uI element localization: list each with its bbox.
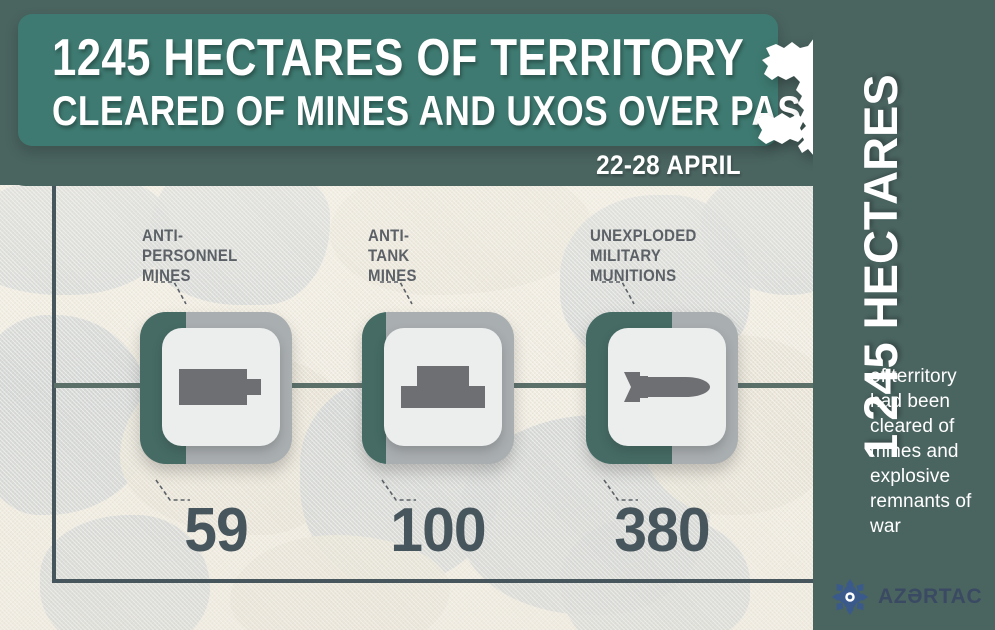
card-inner-plate: [162, 328, 280, 446]
anti-tank-mine-icon: [384, 328, 502, 446]
azertac-rosette-icon: [831, 578, 869, 616]
category-label: ANTI-PERSONNEL MINES: [142, 226, 237, 286]
category-value: 100: [366, 500, 510, 562]
icon-card: [362, 312, 514, 464]
category-value: 59: [144, 500, 288, 562]
category-label: UNEXPLODED MILITARY MUNITIONS: [590, 226, 697, 286]
unexploded-munition-icon: [608, 328, 726, 446]
infographic-root: 1245 HECTARES OF TERRITORY CLEARED OF MI…: [0, 0, 995, 630]
icon-card: [586, 312, 738, 464]
page-title-line1: 1245 HECTARES OF TERRITORY: [52, 30, 744, 86]
date-range-label: 22-28 APRIL: [596, 150, 741, 181]
card-teal-accent: [362, 312, 386, 464]
icon-card: [140, 312, 292, 464]
summary-sidebar: 1 245 HECTARES of territory had been cle…: [813, 0, 995, 630]
leader-line-top: [152, 278, 194, 310]
anti-personnel-mine-icon: [162, 328, 280, 446]
header-title-panel: 1245 HECTARES OF TERRITORY CLEARED OF MI…: [18, 14, 778, 146]
leader-line-top: [600, 278, 642, 310]
frame-horizontal-line: [52, 579, 813, 583]
card-inner-plate: [608, 328, 726, 446]
category-label: ANTI-TANK MINES: [368, 226, 417, 286]
card-inner-plate: [384, 328, 502, 446]
sidebar-body-text: of territory had been cleared of mines a…: [870, 364, 990, 539]
azertac-logo[interactable]: AZƏRTAC: [831, 578, 982, 616]
category-value: 380: [590, 500, 734, 562]
leader-line-top: [378, 278, 420, 310]
azertac-wordmark: AZƏRTAC: [878, 585, 982, 609]
header-banner: 1245 HECTARES OF TERRITORY CLEARED OF MI…: [0, 0, 813, 186]
